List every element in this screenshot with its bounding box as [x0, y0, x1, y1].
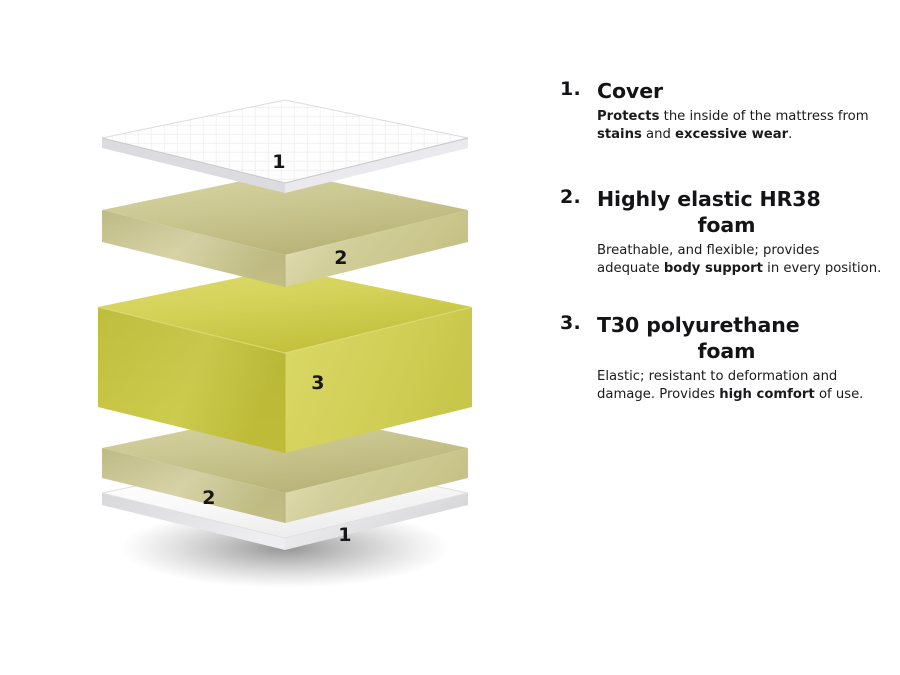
legend-title-3: T30 polyurethane foam [552, 312, 882, 364]
legend-title-2: Highly elastic HR38 foam [552, 186, 882, 238]
mattress-layers-infographic: 1 2 3 2 1 1. Cover Protects the inside o… [0, 0, 900, 675]
legend-number-3: 3. [560, 312, 581, 334]
legend-body-2: Breathable, and flexible; provides adequ… [552, 242, 882, 278]
layer-core-t30 [98, 268, 472, 453]
legend-item-cover: 1. Cover Protects the inside of the matt… [552, 78, 882, 144]
legend-number-1: 1. [560, 78, 581, 100]
legend-item-t30: 3. T30 polyurethane foam Elastic; resist… [552, 312, 882, 404]
legend-title-1: Cover [552, 78, 882, 104]
legend-number-2: 2. [560, 186, 581, 208]
legend-list: 1. Cover Protects the inside of the matt… [552, 78, 882, 404]
legend-item-hr38: 2. Highly elastic HR38 foam Breathable, … [552, 186, 882, 278]
mattress-layer-exploded-diagram: 1 2 3 2 1 [60, 80, 520, 590]
legend-body-1: Protects the inside of the mattress from… [552, 108, 882, 144]
legend-body-3: Elastic; resistant to deformation and da… [552, 368, 882, 404]
layer-top-cover [102, 100, 468, 193]
